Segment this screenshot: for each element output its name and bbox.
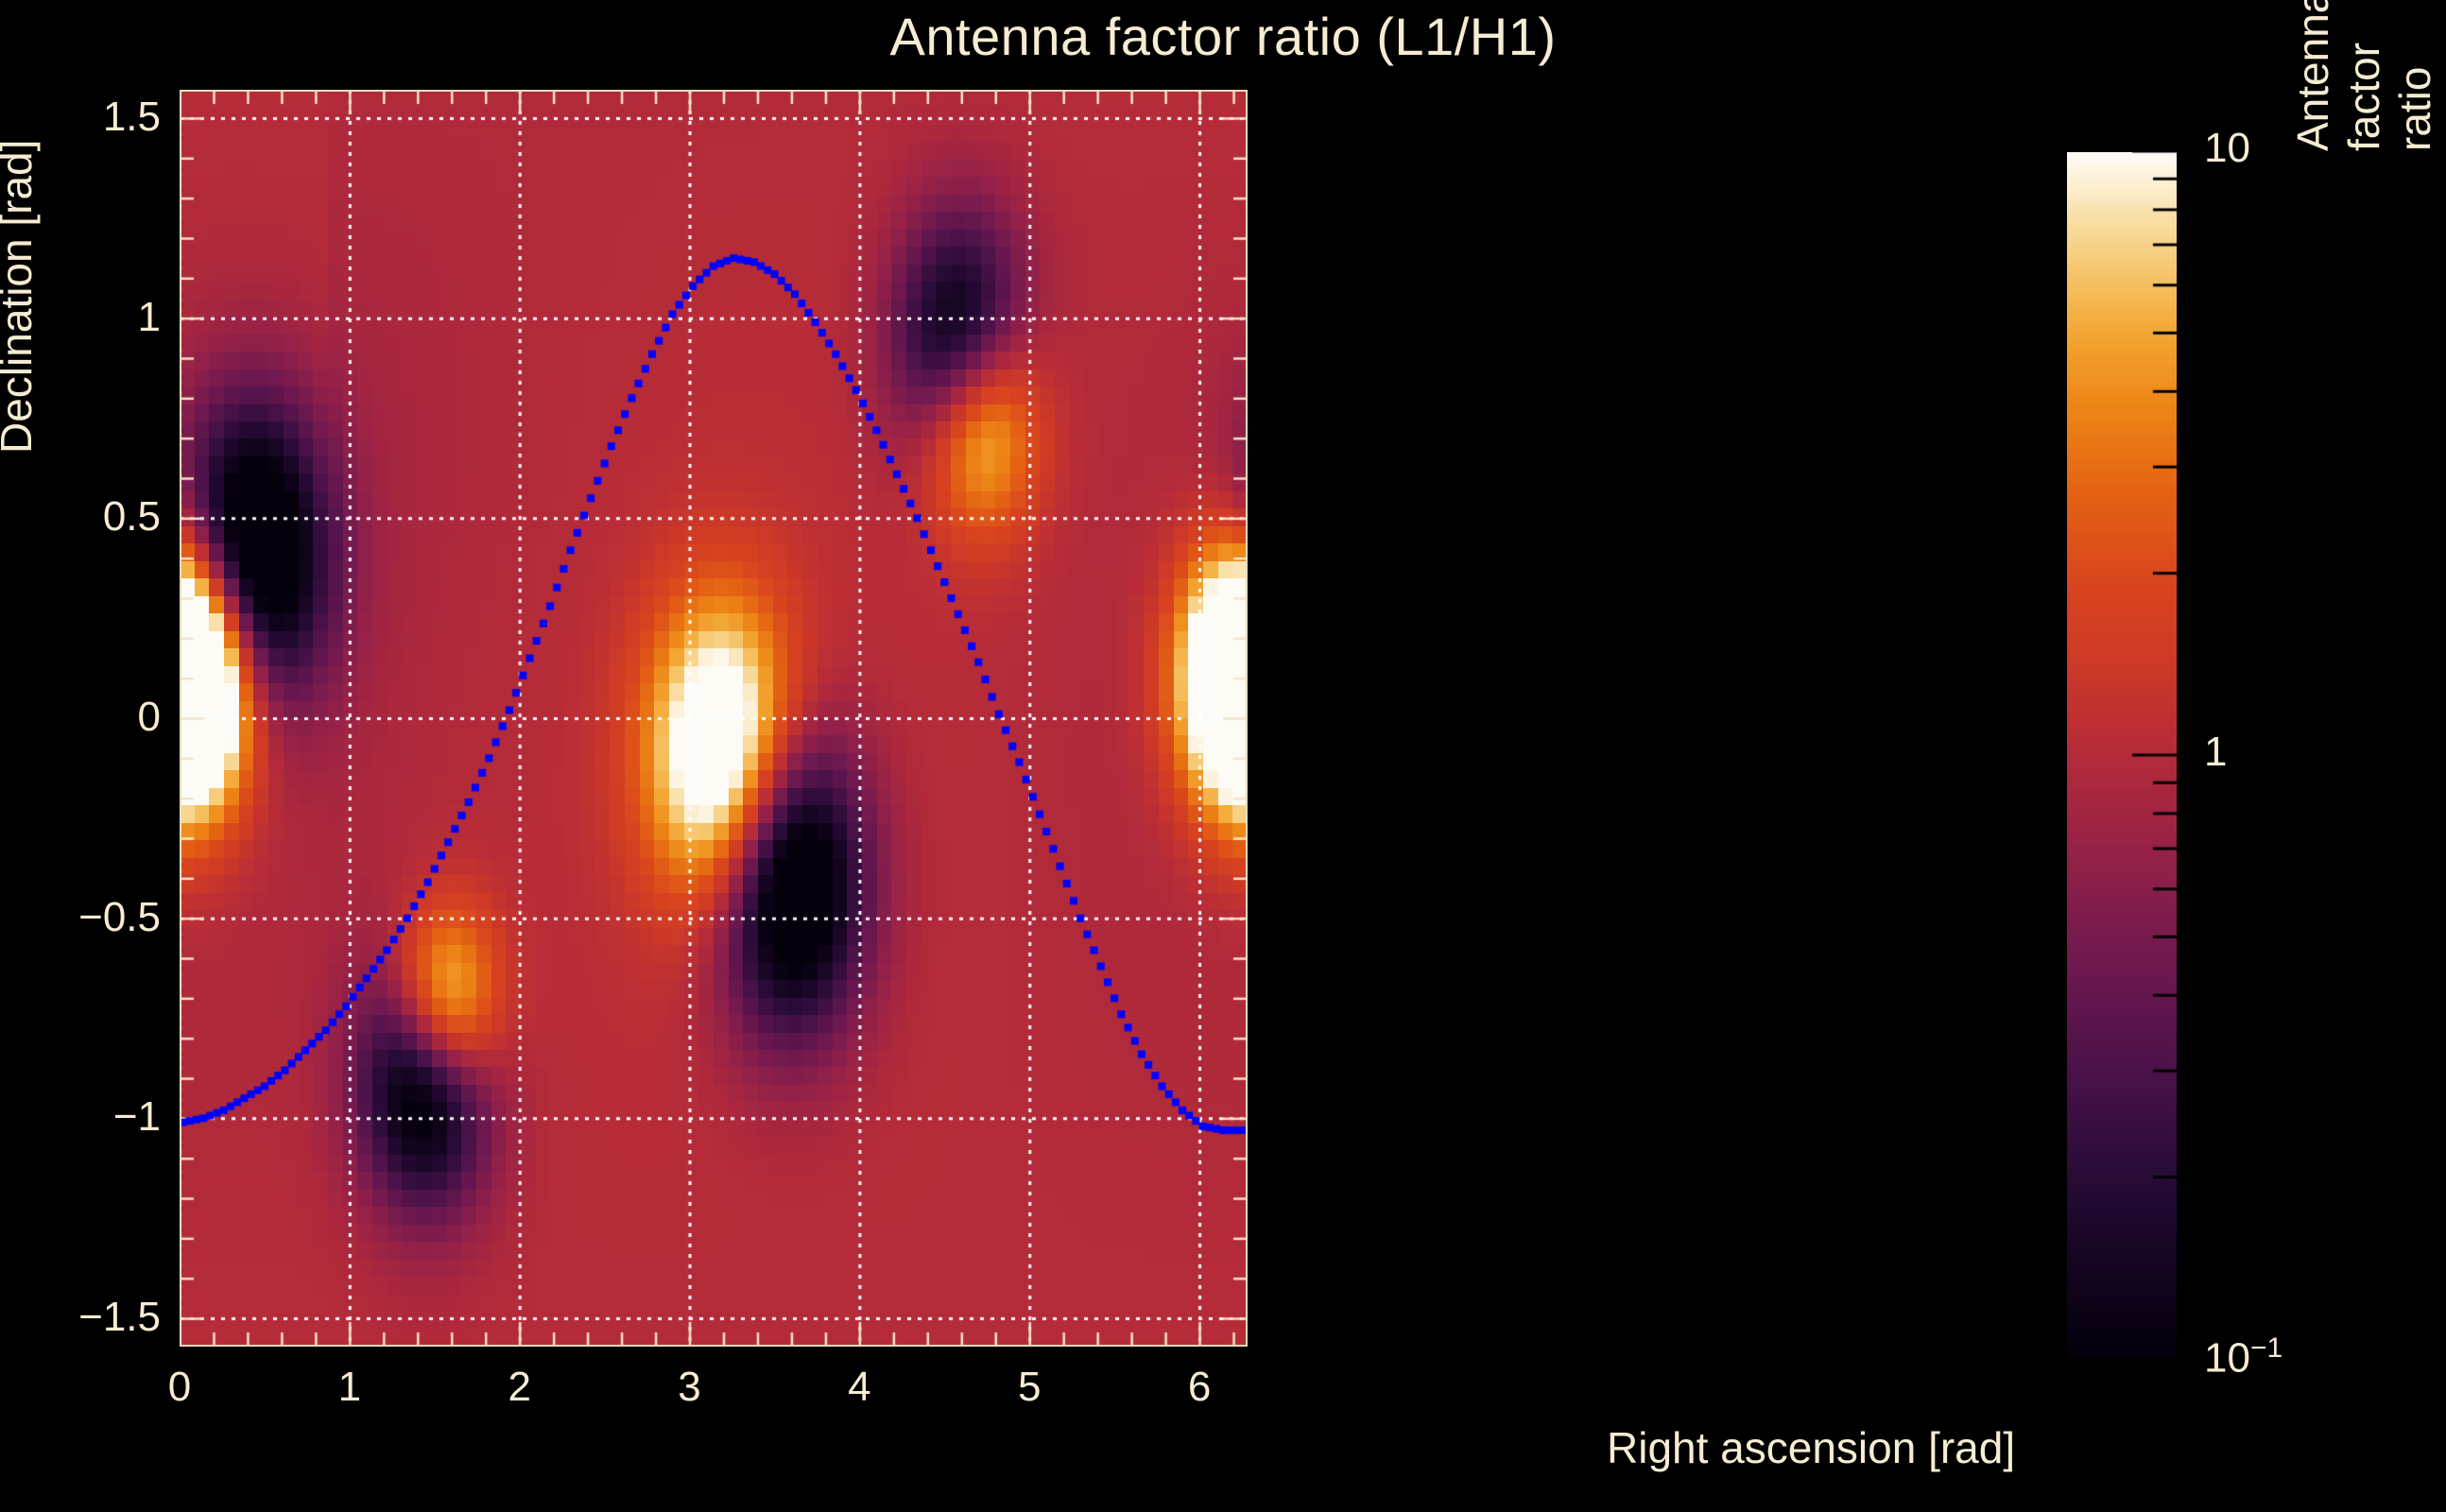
heatmap-plot-area[interactable]: [180, 90, 1248, 1347]
colorbar-ticks: [2066, 151, 2178, 1359]
y-tick-label: −0.5: [19, 894, 161, 941]
y-tick-label: −1: [19, 1093, 161, 1141]
y-tick-label: 1: [19, 294, 161, 341]
y-tick-label: 1.5: [19, 94, 161, 141]
x-tick-label: 1: [302, 1364, 397, 1411]
y-tick-label: −1.5: [19, 1294, 161, 1341]
x-tick-label: 6: [1152, 1364, 1247, 1411]
x-tick-label: 5: [982, 1364, 1077, 1411]
z-tick-label: 10−1: [2204, 1332, 2282, 1383]
figure-root: Antenna factor ratio (L1/H1) Declination…: [0, 0, 2446, 1512]
z-axis-title: Antenna factor ratio (L1/H1): [2287, 0, 2446, 151]
x-tick-label: 3: [643, 1364, 737, 1411]
y-tick-label: 0: [19, 694, 161, 741]
z-tick-label: 1: [2204, 729, 2227, 776]
z-tick-label: 10: [2204, 125, 2250, 172]
overlay-curve-canvas: [180, 90, 1248, 1347]
colorbar[interactable]: [2066, 151, 2178, 1359]
x-tick-label: 4: [812, 1364, 906, 1411]
x-axis-title: Right ascension [rad]: [1607, 1422, 2015, 1473]
chart-title: Antenna factor ratio (L1/H1): [0, 6, 2446, 67]
y-tick-label: 0.5: [19, 493, 161, 541]
x-tick-label: 2: [473, 1364, 567, 1411]
x-tick-label: 0: [132, 1364, 227, 1411]
